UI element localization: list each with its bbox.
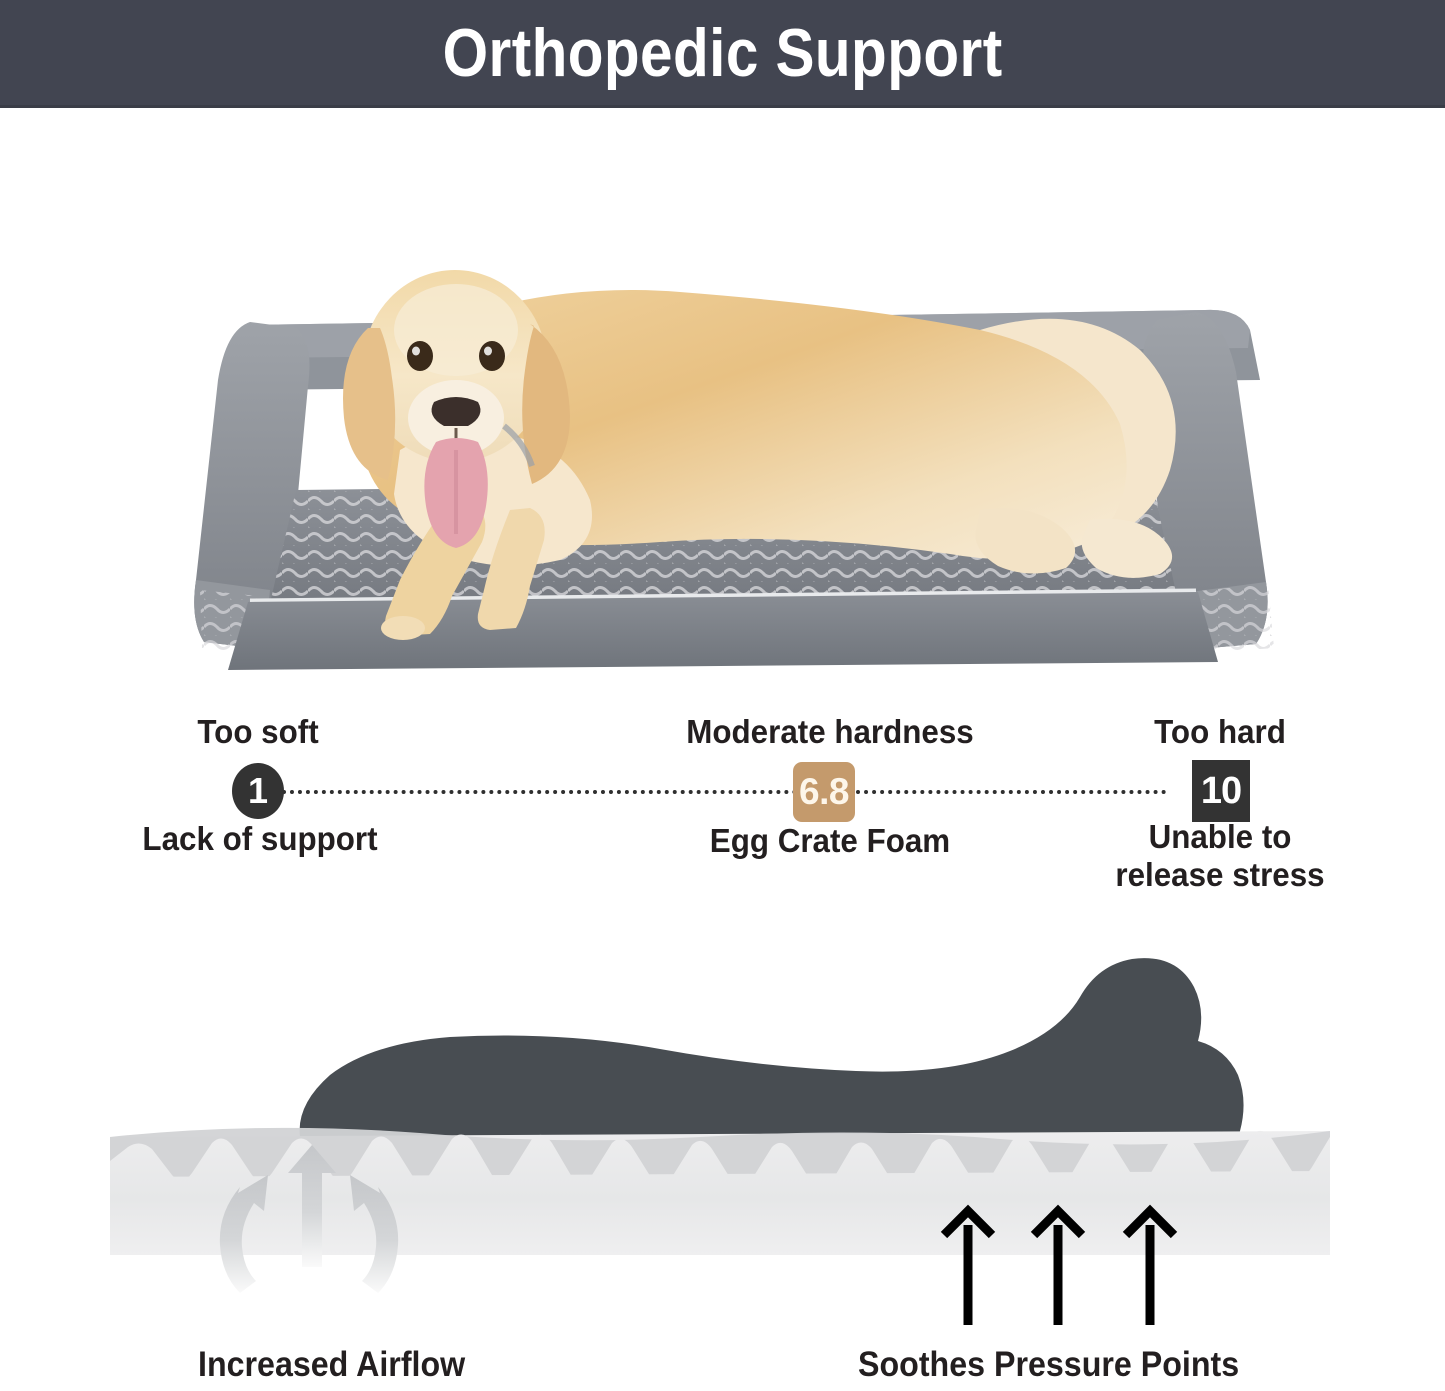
scale-line-left xyxy=(282,790,797,794)
unable-line-1: Unable to xyxy=(1063,818,1377,856)
scale-marker-1: 1 xyxy=(232,763,284,819)
product-photo xyxy=(100,150,1345,670)
infographic-page: Orthopedic Support xyxy=(0,0,1445,1391)
scale-label-too-soft: Too soft xyxy=(125,713,391,751)
pressure-arrow-2 xyxy=(1034,1211,1082,1325)
scale-label-too-hard: Too hard xyxy=(1068,713,1372,751)
pressure-arrow-3 xyxy=(1126,1211,1174,1325)
header-banner: Orthopedic Support xyxy=(0,0,1445,108)
caption-soothes-pressure-points: Soothes Pressure Points xyxy=(858,1345,1239,1385)
caption-increased-airflow: Increased Airflow xyxy=(198,1345,465,1385)
scale-label-egg-crate-foam: Egg Crate Foam xyxy=(650,822,1011,860)
hardness-scale: Too soft Lack of support 1 Moderate hard… xyxy=(0,700,1445,915)
scale-label-lack-of-support: Lack of support xyxy=(108,820,412,858)
unable-line-2: release stress xyxy=(1063,856,1377,894)
scale-marker-10: 10 xyxy=(1192,760,1250,822)
pressure-arrow-1 xyxy=(944,1211,992,1325)
scale-line-right xyxy=(856,790,1166,794)
scale-label-unable-to-release-stress: Unable to release stress xyxy=(1063,818,1377,894)
page-title: Orthopedic Support xyxy=(442,19,1002,87)
scale-marker-6-8: 6.8 xyxy=(793,762,855,822)
foam-diagram xyxy=(0,925,1445,1325)
scale-label-moderate-hardness: Moderate hardness xyxy=(621,713,1039,751)
